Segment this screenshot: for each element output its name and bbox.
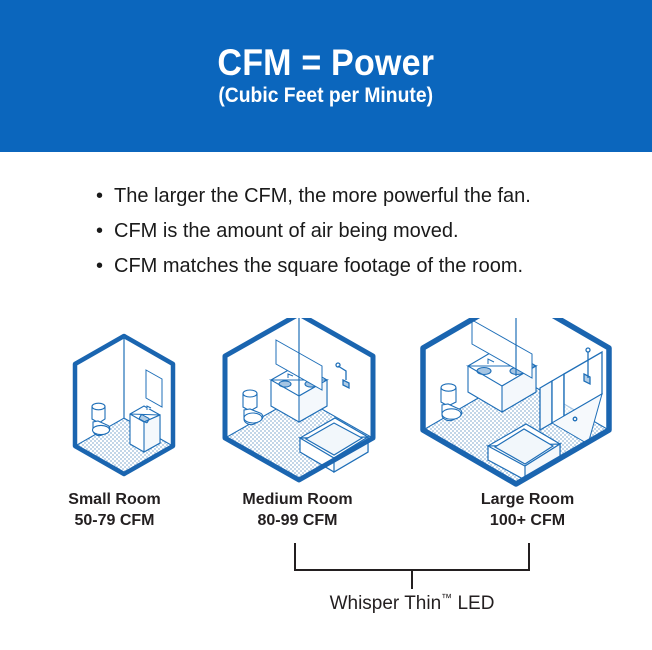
room-cfm-small: 50-79 CFM bbox=[37, 510, 192, 531]
bullet-item: • CFM is the amount of air being moved. bbox=[96, 214, 616, 249]
room-name-large: Large Room bbox=[481, 491, 574, 508]
bullet-text: CFM is the amount of air being moved. bbox=[114, 220, 459, 242]
large-room-geometry bbox=[423, 318, 609, 484]
small-room-geometry bbox=[75, 336, 173, 474]
product-name: Whisper Thin bbox=[330, 593, 442, 614]
room-illustration-large bbox=[412, 318, 627, 498]
room-illustrations-row bbox=[0, 318, 652, 493]
room-illustration-medium bbox=[212, 318, 387, 498]
bullet-item: • CFM matches the square footage of the … bbox=[96, 249, 616, 284]
bullet-list: • The larger the CFM, the more powerful … bbox=[96, 179, 616, 284]
room-cfm-medium: 80-99 CFM bbox=[205, 510, 390, 531]
trademark-icon: ™ bbox=[441, 593, 452, 605]
bullet-marker-icon: • bbox=[96, 179, 103, 214]
bracket-connector bbox=[294, 542, 530, 590]
bullet-marker-icon: • bbox=[96, 214, 103, 249]
product-suffix: LED bbox=[452, 593, 494, 614]
bullet-item: • The larger the CFM, the more powerful … bbox=[96, 179, 616, 214]
room-cfm-large: 100+ CFM bbox=[420, 510, 635, 531]
room-caption-large: Large Room 100+ CFM bbox=[420, 489, 635, 531]
room-name-small: Small Room bbox=[68, 491, 160, 508]
room-illustration-small bbox=[52, 318, 202, 498]
bullet-text: CFM matches the square footage of the ro… bbox=[114, 255, 523, 277]
room-name-medium: Medium Room bbox=[242, 491, 352, 508]
room-caption-small: Small Room 50-79 CFM bbox=[37, 489, 192, 531]
vanity-icon bbox=[130, 406, 160, 452]
bracket-span bbox=[295, 543, 529, 570]
room-caption-medium: Medium Room 80-99 CFM bbox=[205, 489, 390, 531]
page-title: CFM = Power bbox=[218, 44, 435, 83]
bullet-marker-icon: • bbox=[96, 249, 103, 284]
page-subtitle: (Cubic Feet per Minute) bbox=[219, 84, 434, 108]
header-banner: CFM = Power (Cubic Feet per Minute) bbox=[0, 0, 652, 152]
infographic-page: CFM = Power (Cubic Feet per Minute) • Th… bbox=[0, 0, 652, 650]
product-caption: Whisper Thin™ LED bbox=[206, 592, 618, 616]
medium-room-geometry bbox=[225, 318, 373, 480]
bullet-text: The larger the CFM, the more powerful th… bbox=[114, 185, 531, 207]
